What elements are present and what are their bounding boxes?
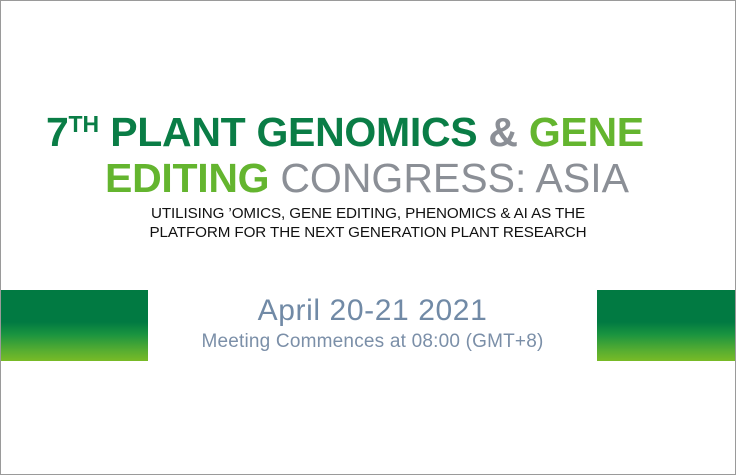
title-line-1: 7TH PLANT GENOMICS & GENE — [46, 101, 696, 155]
title-ordinal-suffix: TH — [69, 111, 100, 137]
title-ordinal-number: 7 — [46, 109, 69, 155]
event-date-block: April 20-21 2021 Meeting Commences at 08… — [148, 293, 597, 354]
green-bar-right — [597, 290, 735, 361]
event-date: April 20-21 2021 — [148, 293, 597, 329]
event-start-time: Meeting Commences at 08:00 (GMT+8) — [148, 329, 597, 354]
title-spacer-3 — [518, 109, 529, 155]
title-line-2: EDITING CONGRESS: ASIA — [46, 155, 696, 201]
title-spacer-4 — [269, 155, 280, 201]
title-spacer-2 — [477, 109, 488, 155]
event-title: 7TH PLANT GENOMICS & GENE EDITING CONGRE… — [46, 101, 696, 201]
title-congress-asia: CONGRESS: ASIA — [280, 155, 629, 201]
title-editing: EDITING — [105, 155, 269, 201]
subtitle-line-1: UTILISING ’OMICS, GENE EDITING, PHENOMIC… — [1, 204, 735, 223]
subtitle-line-2: PLATFORM FOR THE NEXT GENERATION PLANT R… — [1, 223, 735, 242]
title-ampersand: & — [488, 109, 517, 155]
title-plant-genomics: PLANT GENOMICS — [110, 109, 477, 155]
title-gene: GENE — [529, 109, 644, 155]
event-banner: 7TH PLANT GENOMICS & GENE EDITING CONGRE… — [0, 0, 736, 475]
event-subtitle: UTILISING ’OMICS, GENE EDITING, PHENOMIC… — [1, 204, 735, 242]
title-spacer-1 — [99, 109, 110, 155]
green-bar-left — [1, 290, 148, 361]
